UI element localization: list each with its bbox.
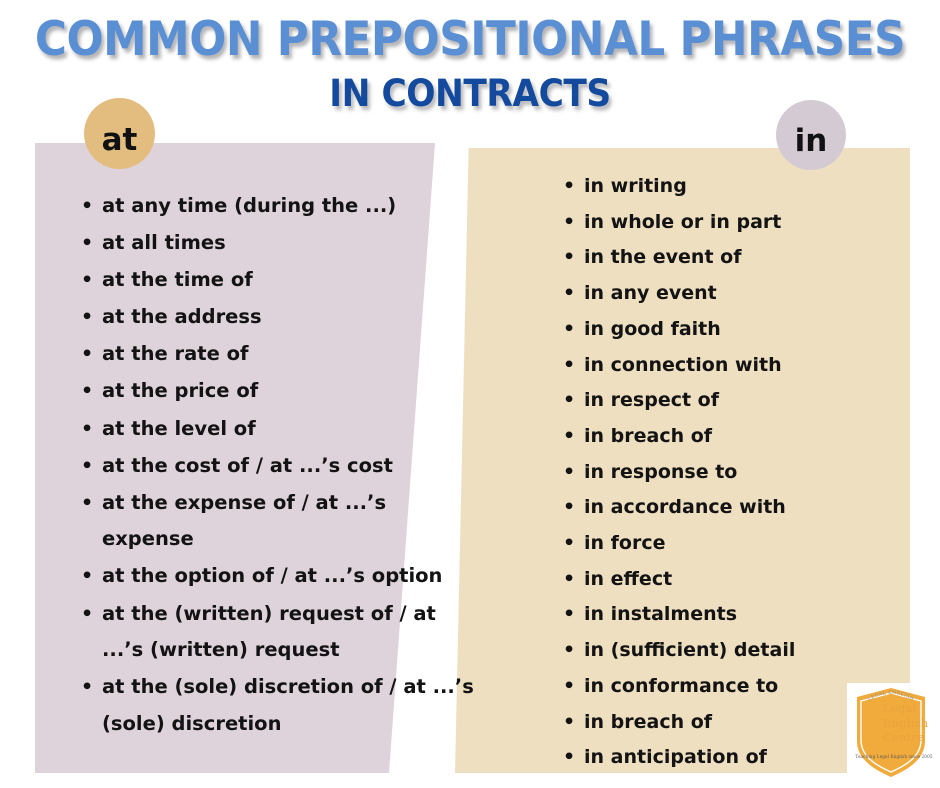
list-item: at the address (78, 299, 478, 336)
title-line-primary: COMMON PREPOSITIONAL PHRASES (33, 14, 907, 67)
list-item: in instalments (560, 597, 900, 632)
list-item: in connection with (560, 348, 900, 383)
list-item: in force (560, 526, 900, 561)
list-item: in whole or in part (560, 205, 900, 240)
title-line-secondary: IN CONTRACTS (33, 71, 907, 116)
list-item: at the cost of / at ...’s cost (78, 448, 478, 485)
list-item: at the option of / at ...’s option (78, 558, 478, 595)
list-item: at the price of (78, 373, 478, 410)
legal-english-centre-logo: LEGAL ENGLISH Legal English Centre Teach… (847, 683, 935, 781)
poster-title: COMMON PREPOSITIONAL PHRASES IN CONTRACT… (0, 14, 940, 116)
badge-at-label: at (102, 122, 138, 158)
logo-word-centre: Centre (883, 730, 928, 745)
list-item: at the rate of (78, 336, 478, 373)
list-item: at the (sole) discretion of / at ...’s (… (78, 669, 478, 742)
list-item: in writing (560, 169, 900, 204)
at-phrase-list: at any time (during the ...) at all time… (78, 188, 478, 743)
list-item: in good faith (560, 312, 900, 347)
list-item: in response to (560, 455, 900, 490)
logo-word-english: English (883, 716, 928, 731)
list-item: in the event of (560, 240, 900, 275)
list-item: in any event (560, 276, 900, 311)
list-item: in accordance with (560, 490, 900, 525)
logo-tagline: Teaching Legal English since 2005 (853, 754, 935, 759)
list-item: in (sufficient) detail (560, 633, 900, 668)
list-item: at all times (78, 225, 478, 262)
list-item: in respect of (560, 383, 900, 418)
badge-in-label: in (795, 123, 828, 159)
list-item: at any time (during the ...) (78, 188, 478, 225)
list-item: at the (written) request of / at ...’s (… (78, 596, 478, 669)
logo-word-legal: Legal (883, 701, 928, 716)
list-item: at the expense of / at ...’s expense (78, 485, 478, 558)
list-item: at the level of (78, 411, 478, 448)
infographic-poster: COMMON PREPOSITIONAL PHRASES IN CONTRACT… (0, 0, 940, 788)
list-item: at the time of (78, 262, 478, 299)
list-item: in breach of (560, 419, 900, 454)
list-item: in effect (560, 562, 900, 597)
logo-wordmark: Legal English Centre (883, 701, 928, 745)
